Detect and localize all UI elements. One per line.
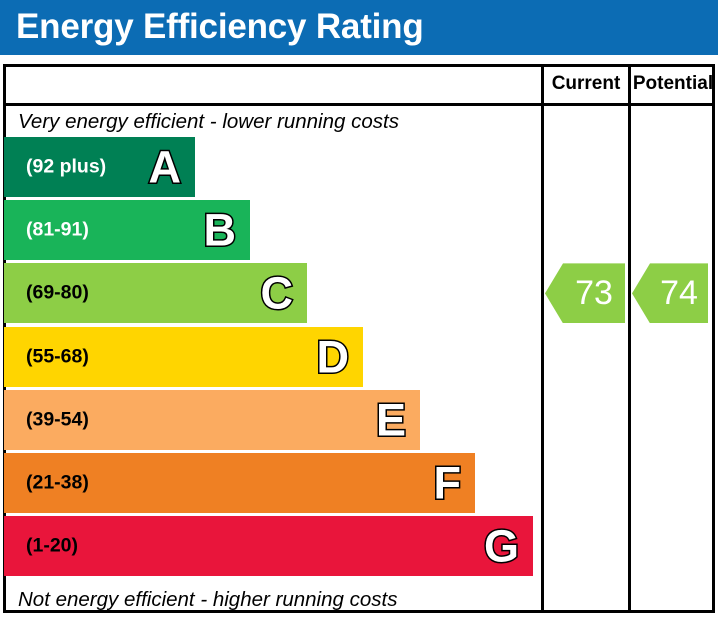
band-range-label: (55-68)	[26, 345, 89, 368]
band-letter-label: G	[484, 524, 519, 569]
rating-band-g: (1-20)G	[4, 516, 533, 576]
band-range-label: (1-20)	[26, 535, 78, 558]
current-rating-value: 73	[563, 276, 625, 310]
current-column-divider	[541, 64, 544, 613]
band-letter-label: B	[204, 208, 237, 253]
band-letter-label: E	[376, 397, 406, 442]
band-letter-label: D	[317, 334, 350, 379]
energy-efficiency-rating-chart: Energy Efficiency Rating Current Potenti…	[0, 0, 718, 619]
page-title: Energy Efficiency Rating	[16, 7, 424, 47]
band-letter-label: A	[149, 145, 182, 190]
caption-top: Very energy efficient - lower running co…	[18, 110, 399, 134]
band-range-label: (92 plus)	[26, 156, 106, 179]
column-header-potential: Potential	[631, 73, 715, 95]
rating-band-b: (81-91)B	[4, 200, 250, 260]
band-letter-label: F	[434, 461, 462, 506]
rating-band-e: (39-54)E	[4, 390, 420, 450]
band-range-label: (39-54)	[26, 408, 89, 431]
rating-band-a: (92 plus)A	[4, 137, 195, 197]
caption-bottom: Not energy efficient - higher running co…	[18, 588, 397, 612]
band-letter-label: C	[261, 271, 294, 316]
rating-band-c: (69-80)C	[4, 263, 307, 323]
potential-column-divider	[628, 64, 631, 613]
header-row-divider	[3, 103, 715, 106]
band-range-label: (81-91)	[26, 219, 89, 242]
chart-title-bar: Energy Efficiency Rating	[0, 0, 718, 55]
rating-band-f: (21-38)F	[4, 453, 475, 513]
potential-rating-value: 74	[650, 276, 708, 310]
rating-band-d: (55-68)D	[4, 327, 363, 387]
band-range-label: (21-38)	[26, 472, 89, 495]
column-header-current: Current	[544, 73, 628, 95]
band-range-label: (69-80)	[26, 282, 89, 305]
